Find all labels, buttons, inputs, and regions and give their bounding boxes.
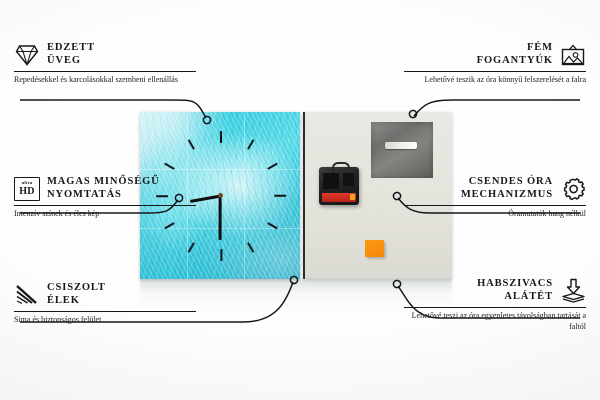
connector-endpoint-foam-pad <box>393 280 400 287</box>
clock-center-cap <box>218 193 223 198</box>
mechanism-slot <box>343 173 354 186</box>
callout-title: MAGAS MINŐSÉGŰ NYOMTATÁS <box>47 176 160 202</box>
clock-tick <box>274 194 286 196</box>
callout-silent-clock: CSENDES ÓRA MECHANIZMUS Óramutatók hang … <box>404 176 586 220</box>
callout-header: CSISZOLT ÉLEK <box>14 282 196 308</box>
clock-mechanism-part <box>319 167 359 205</box>
mechanism-hook <box>332 162 350 173</box>
callout-description: Sima és biztonságos felület <box>14 315 196 326</box>
hanger-slot <box>385 142 417 149</box>
ultra-hd-icon: ultra HD <box>14 176 40 202</box>
callout-header: HABSZIVACS ALÁTÉT <box>404 278 586 304</box>
callout-divider <box>14 205 196 206</box>
callout-divider <box>404 71 586 72</box>
clock-tick <box>247 242 254 253</box>
clock-tick <box>247 139 254 150</box>
callout-title: HABSZIVACS ALÁTÉT <box>477 278 553 304</box>
ultra-hd-badge: ultra HD <box>14 177 40 201</box>
ultra-hd-badge-main: HD <box>19 187 35 197</box>
arrow-onto-pad-icon <box>560 278 586 304</box>
callout-description: Intenzív színek és éles kép <box>14 209 196 220</box>
clock-tick <box>164 222 175 229</box>
callout-hd-print: ultra HD MAGAS MINŐSÉGŰ NYOMTATÁS Intenz… <box>14 176 196 220</box>
callout-header: ultra HD MAGAS MINŐSÉGŰ NYOMTATÁS <box>14 176 196 202</box>
diamond-icon <box>14 42 40 68</box>
clock-tick <box>267 162 278 169</box>
callout-foam-pad: HABSZIVACS ALÁTÉT Lehetővé teszi az óra … <box>404 278 586 333</box>
callout-title: CSISZOLT ÉLEK <box>47 282 106 308</box>
clock-tick <box>267 222 278 229</box>
foam-pad-part <box>365 240 384 257</box>
clock-tick <box>220 249 222 261</box>
callout-divider <box>404 205 586 206</box>
callout-divider <box>14 311 196 312</box>
clock-tick <box>164 162 175 169</box>
clock-tick <box>188 242 195 253</box>
panel-edge <box>303 112 305 279</box>
callout-header: CSENDES ÓRA MECHANIZMUS <box>404 176 586 202</box>
bevel-lines-icon <box>14 282 40 308</box>
clock-tick <box>188 139 195 150</box>
callout-metal-hangers: FÉM FOGANTYÚK Lehetővé teszik az óra kön… <box>404 42 586 86</box>
clock-tick <box>220 131 222 143</box>
callout-divider <box>14 71 196 72</box>
battery-part <box>322 193 356 202</box>
callout-title: EDZETT ÜVEG <box>47 42 95 68</box>
battery-terminal <box>350 194 355 200</box>
callout-header: EDZETT ÜVEG <box>14 42 196 68</box>
callout-description: Lehetővé teszi az óra egyenletes távolsá… <box>404 311 586 333</box>
picture-frame-hanger-icon <box>560 42 586 68</box>
clock-minute-hand <box>219 196 222 240</box>
callout-divider <box>404 307 586 308</box>
product-infographic: EDZETT ÜVEG Repedésekkel és karcolásokka… <box>0 0 600 400</box>
mechanism-slot <box>323 173 339 189</box>
callout-title: CSENDES ÓRA MECHANIZMUS <box>461 176 553 202</box>
callout-description: Lehetővé teszik az óra könnyű felszerelé… <box>404 75 586 86</box>
gear-icon <box>560 176 586 202</box>
callout-description: Óramutatók hang nélkül <box>404 209 586 220</box>
callout-description: Repedésekkel és karcolásokkal szembeni e… <box>14 75 196 86</box>
callout-title: FÉM FOGANTYÚK <box>477 42 553 68</box>
callout-header: FÉM FOGANTYÚK <box>404 42 586 68</box>
metal-hanger-part <box>371 122 433 178</box>
callout-polished-edges: CSISZOLT ÉLEK Sima és biztonságos felüle… <box>14 282 196 326</box>
callout-tempered-glass: EDZETT ÜVEG Repedésekkel és karcolásokka… <box>14 42 196 86</box>
